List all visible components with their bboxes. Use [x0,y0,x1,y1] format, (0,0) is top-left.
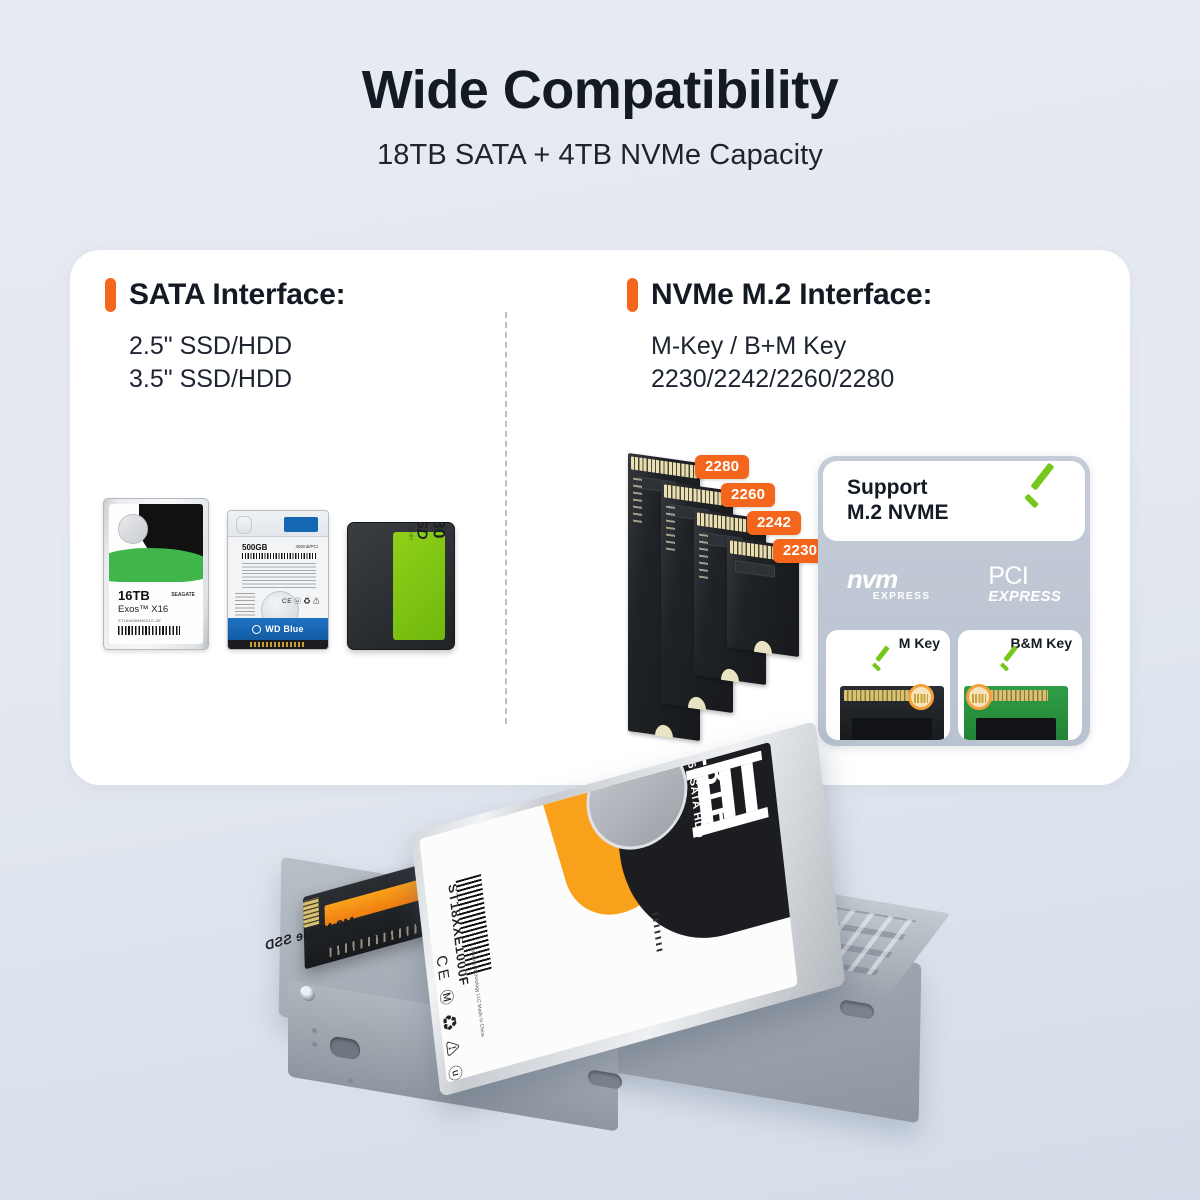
nvme-interface-column: NVMe M.2 Interface: M-Key / B+M Key 2230… [627,278,932,396]
ssd-green-label [393,532,445,640]
nvm-logo-sub: EXPRESS [873,591,931,602]
sata-spec-line: 3.5" SSD/HDD [129,363,345,396]
nvme-heading-row: NVMe M.2 Interface: [627,278,932,312]
gold-fingers-icon [990,690,1048,701]
blue-label-box [284,517,318,532]
pci-express-logo: PCI EXPRESS [988,565,1061,606]
sata-spec-line: 2.5" SSD/HDD [129,330,345,363]
hdd-label: 16TB Exos™ X16 ST16000NM001G-2K CE Ⓜ ♻ ⚠… [109,504,203,644]
mounting-notch-icon [655,724,673,739]
size-badge-2280: 2280 [695,455,749,479]
mounting-notch-icon [721,668,739,683]
sata-heading: SATA Interface: [129,278,345,312]
green-check-icon [872,656,894,676]
standards-logos: nvm EXPRESS PCI EXPRESS [818,552,1090,618]
barcode-icon [118,626,180,635]
page-title: Wide Compatibility [0,62,1200,119]
m-key-title: M Key [899,635,940,651]
product-scene: M2 NVMe SSD 4TB 18TB 3.5" SATA HDD ST18X… [0,760,1200,1200]
pci-logo-main: PCI [988,565,1061,589]
spindle-cap-icon [236,516,252,534]
hdd-family: Exos™ X16 [118,604,168,615]
caddy-front-dot [312,1028,317,1034]
hdd-capacity: 16TB [118,588,150,603]
column-divider [505,312,507,724]
bm-key-title: B&M Key [1011,635,1072,651]
green-check-icon [1021,480,1063,522]
mounting-notch-icon [688,696,706,711]
hdd-model: ST16000NM001G-2K [118,618,161,623]
hdd-interface: 400mb/PCI [295,544,318,549]
controller-chip-icon [735,560,775,578]
board-silkscreen [666,506,675,553]
board-silkscreen [699,534,708,581]
support-text: Support M.2 NVME [847,476,949,526]
sata-spec-list: 2.5" SSD/HDD 3.5" SSD/HDD [129,330,345,396]
support-line-1: Support [847,476,949,501]
sata-connector [228,640,328,649]
wd-blue-2-5-hdd-image: 500GB 400mb/PCI CE ⓤ ♻ ⚠ WD Blue [227,510,329,650]
nvme-support-panel: Support M.2 NVME nvm EXPRESS PCI EXPRESS… [818,456,1090,746]
notch-magnifier-icon [966,684,992,710]
nvme-spec-line: M-Key / B+M Key [651,330,932,363]
sata-interface-column: SATA Interface: 2.5" SSD/HDD 3.5" SSD/HD… [105,278,345,396]
hdd-capacity: 500GB [242,543,267,552]
gold-fingers-icon [844,690,918,701]
wd-blue-brand-bar: WD Blue [228,618,328,640]
nvme-spec-line: 2230/2242/2260/2280 [651,363,932,396]
support-header: Support M.2 NVME [823,461,1085,541]
size-badge-2242: 2242 [747,511,801,535]
page-subtitle: 18TB SATA + 4TB NVMe Capacity [0,139,1200,172]
mounting-notch-icon [754,640,772,655]
header: Wide Compatibility 18TB SATA + 4TB NVMe … [0,0,1200,172]
brand-mark: SSD [413,522,430,539]
brand-mark: WD Blue [265,624,303,634]
nvme-heading: NVMe M.2 Interface: [651,278,932,312]
sata-heading-row: SATA Interface: [105,278,345,312]
support-line-2: M.2 NVME [847,501,949,526]
bm-key-card: B&M Key [958,630,1082,740]
orange-bullet-icon [627,278,638,312]
notch-magnifier-icon [908,684,934,710]
orange-bullet-icon [105,278,116,312]
ssd-model: SP580 [429,522,449,539]
m2-size-stack: 2280 2260 2242 2230 [628,452,808,752]
sata-drive-gallery: 16TB Exos™ X16 ST16000NM001G-2K CE Ⓜ ♻ ⚠… [103,498,455,650]
spindle-cap-icon [118,514,148,544]
m-key-card: M Key [826,630,950,740]
caddy-front-dot [348,1078,353,1084]
size-badge-2260: 2260 [721,483,775,507]
barcode-icon [242,553,316,559]
wd-logo-icon [252,625,261,634]
label-green-swoosh [109,548,203,582]
cert-marks: CE ⓤ ♻ ⚠ [282,595,320,605]
ssd-series: Premier [408,522,414,541]
label-text-block [242,563,316,589]
gold-fingers-icon [631,456,697,478]
sp580-ssd-image: SSD Premier SP580 [347,522,455,650]
nvme-spec-list: M-Key / B+M Key 2230/2242/2260/2280 [651,330,932,396]
pci-logo-sub: EXPRESS [988,588,1061,605]
nvm-logo-main: nvm [847,568,931,591]
nand-chip-icon [852,718,932,740]
key-type-cards: M Key B&M Key [826,630,1082,740]
caddy-front-dot [312,1042,317,1048]
brand-mark: SEAGATE [171,592,195,598]
nand-chip-icon [976,718,1056,740]
nvm-express-logo: nvm EXPRESS [847,568,931,602]
board-silkscreen [633,478,642,525]
seagate-exos-3-5-hdd-image: 16TB Exos™ X16 ST16000NM001G-2K CE Ⓜ ♻ ⚠… [103,498,209,650]
connector-pins-icon [250,642,306,647]
green-check-icon [1000,656,1022,676]
